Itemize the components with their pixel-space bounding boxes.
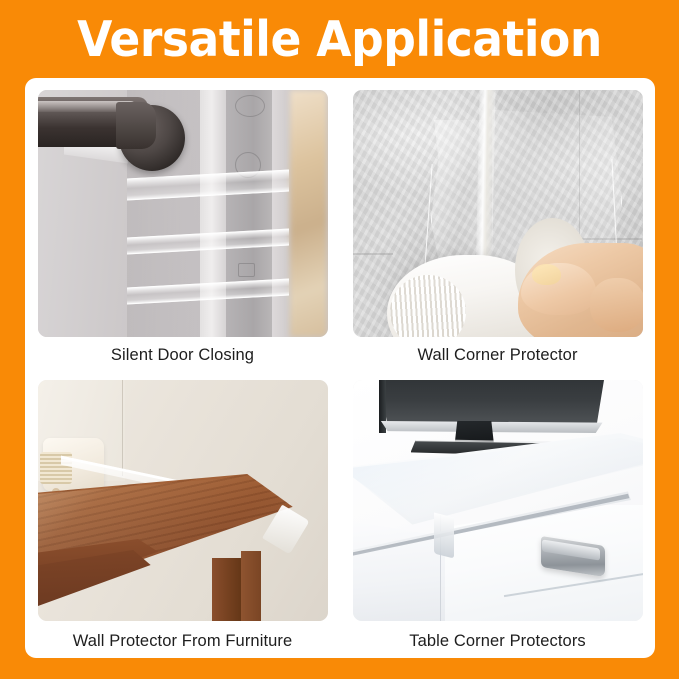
wall-grout-line-3 <box>353 253 394 255</box>
table-leg-back <box>241 551 261 621</box>
door-lever-neck <box>116 102 157 149</box>
tile-table-corner-protectors[interactable]: Table Corner Protectors <box>340 368 655 658</box>
blurred-background <box>290 90 328 337</box>
tile-wall-corner-protector[interactable]: Wall Corner Protector <box>340 78 655 368</box>
fingernail <box>532 264 561 285</box>
photo-wall-protector-from-furniture <box>38 380 328 621</box>
infographic-root: Versatile Application <box>0 0 679 679</box>
photo-table-corner-protectors <box>353 380 643 621</box>
tile-caption: Wall Protector From Furniture <box>73 632 293 651</box>
tile-caption: Silent Door Closing <box>111 346 254 365</box>
page-title: Versatile Application <box>24 11 655 69</box>
table-leg <box>212 558 241 621</box>
jamb-square-detail <box>238 263 255 277</box>
tile-caption: Wall Corner Protector <box>417 346 577 365</box>
tape-roll-layers <box>390 275 465 337</box>
appliance-grill <box>40 452 72 483</box>
jamb-circle-detail-1 <box>235 95 265 117</box>
door-jamb <box>226 90 272 337</box>
photo-silent-door-closing <box>38 90 328 337</box>
edge-protector-corner <box>434 512 454 558</box>
thumb <box>590 278 642 332</box>
photo-wall-corner-protector <box>353 90 643 337</box>
tile-silent-door-closing[interactable]: Silent Door Closing <box>25 78 340 368</box>
content-panel: Silent Door Closing <box>25 78 655 658</box>
tile-wall-protector-from-furniture[interactable]: Wall Protector From Furniture <box>25 368 340 658</box>
tile-grid: Silent Door Closing <box>25 78 655 658</box>
wall-corner-line <box>122 380 124 476</box>
tile-caption: Table Corner Protectors <box>409 632 586 651</box>
